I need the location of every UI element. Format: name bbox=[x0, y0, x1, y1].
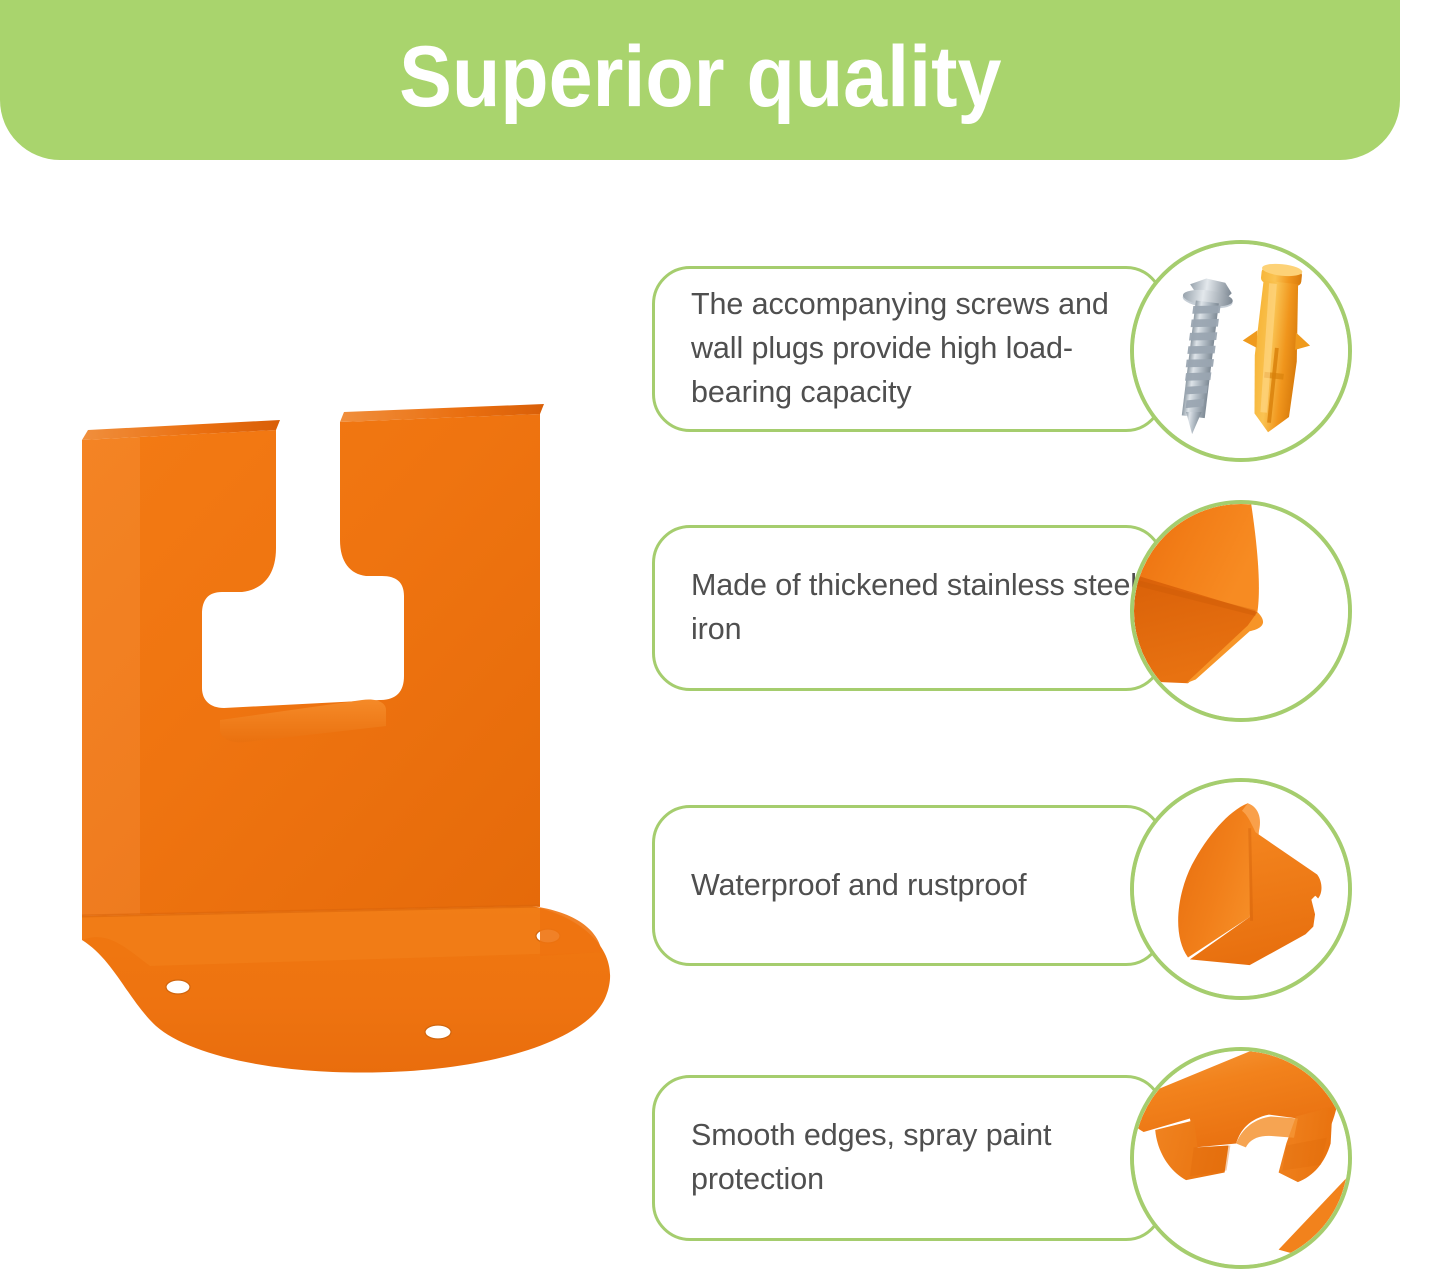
feature-thumbnail-material bbox=[1130, 500, 1352, 722]
feature-label: Smooth edges, spray paint protection bbox=[655, 1114, 1161, 1202]
bracket-folded-edge-icon bbox=[1134, 504, 1348, 718]
feature-text-box: The accompanying screws and wall plugs p… bbox=[652, 266, 1164, 432]
feature-thumbnail-waterproof bbox=[1130, 778, 1352, 1000]
feature-text-box: Smooth edges, spray paint protection bbox=[652, 1075, 1164, 1241]
feature-label: The accompanying screws and wall plugs p… bbox=[655, 283, 1161, 415]
bracket-illustration bbox=[70, 400, 630, 1100]
bracket-corner-icon bbox=[1134, 782, 1348, 996]
feature-text-box: Waterproof and rustproof bbox=[652, 805, 1164, 966]
feature-list: The accompanying screws and wall plugs p… bbox=[648, 0, 1445, 1256]
feature-label: Made of thickened stainless steel iron bbox=[655, 564, 1161, 652]
feature-label: Waterproof and rustproof bbox=[655, 864, 1027, 908]
feature-text-box: Made of thickened stainless steel iron bbox=[652, 525, 1164, 691]
feature-thumbnail-smooth-edges bbox=[1130, 1047, 1352, 1269]
product-image bbox=[70, 400, 630, 1100]
bracket-cutout-edge-icon bbox=[1134, 1051, 1348, 1265]
screw-and-wall-plug-icon bbox=[1134, 244, 1348, 458]
feature-thumbnail-screws bbox=[1130, 240, 1352, 462]
